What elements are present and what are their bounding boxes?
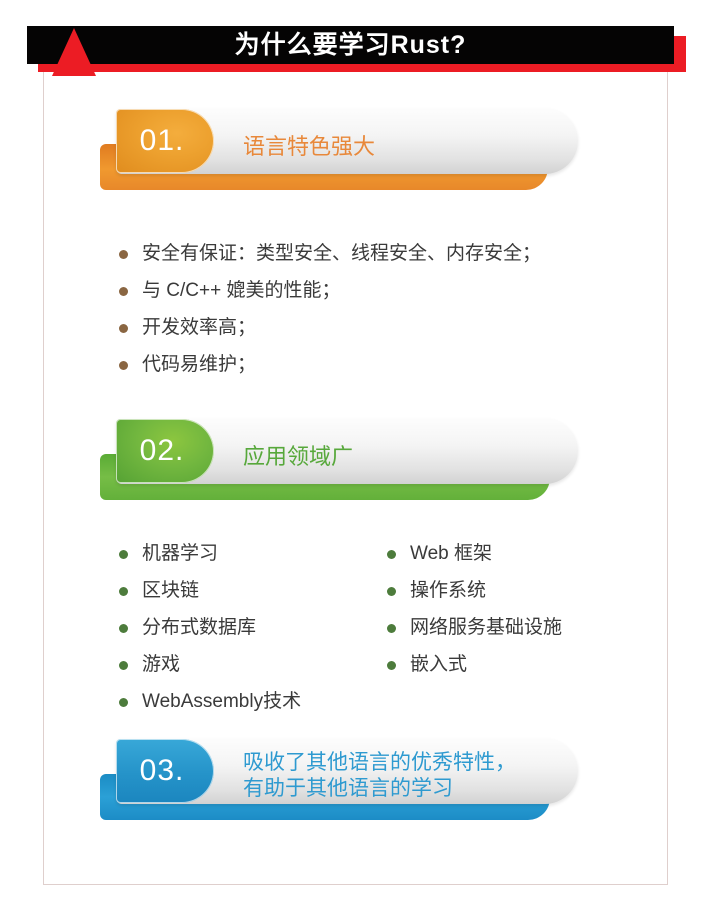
list-item-label: 游戏	[142, 654, 180, 675]
list-item-label: 开发效率高；	[142, 317, 256, 338]
bullet-dot-icon	[387, 661, 396, 670]
bullet-dot-icon	[119, 361, 128, 370]
list-item: 嵌入式	[383, 646, 562, 683]
list-item-label: 嵌入式	[410, 654, 467, 675]
list-item: 操作系统	[383, 572, 562, 609]
list-item-label: 区块链	[142, 580, 199, 601]
list-item: 网络服务基础设施	[383, 609, 562, 646]
section-title: 吸收了其他语言的优秀特性， 有助于其他语言的学习	[243, 750, 516, 802]
section-01-bullet-list: 安全有保证：类型安全、线程安全、内存安全； 与 C/C++ 媲美的性能； 开发效…	[115, 235, 541, 383]
bullet-dot-icon	[387, 624, 396, 633]
header-banner: 为什么要学习Rust?	[0, 0, 712, 90]
list-item-label: WebAssembly技术	[142, 691, 301, 712]
section-02-bullet-list-right: Web 框架 操作系统 网络服务基础设施 嵌入式	[383, 535, 562, 683]
bullet-dot-icon	[119, 550, 128, 559]
list-item-label: 与 C/C++ 媲美的性能；	[142, 280, 340, 301]
list-item-label: Web 框架	[410, 543, 492, 564]
list-item: 分布式数据库	[115, 609, 301, 646]
bullet-dot-icon	[119, 324, 128, 333]
list-item: 开发效率高；	[115, 309, 541, 346]
bullet-dot-icon	[119, 624, 128, 633]
section-number-badge: 03.	[116, 739, 214, 803]
section-header-02: 02. 应用领域广	[100, 418, 580, 504]
section-header-01: 01. 语言特色强大	[100, 108, 580, 194]
list-item: Web 框架	[383, 535, 562, 572]
section-number-badge: 02.	[116, 419, 214, 483]
section-number-badge: 01.	[116, 109, 214, 173]
section-header-03: 03. 吸收了其他语言的优秀特性， 有助于其他语言的学习	[100, 738, 580, 824]
list-item: 安全有保证：类型安全、线程安全、内存安全；	[115, 235, 541, 272]
list-item: 与 C/C++ 媲美的性能；	[115, 272, 541, 309]
page-title: 为什么要学习Rust?	[27, 26, 674, 64]
list-item: WebAssembly技术	[115, 683, 301, 720]
bullet-dot-icon	[119, 661, 128, 670]
section-title: 语言特色强大	[243, 129, 375, 161]
section-title: 应用领域广	[243, 439, 353, 471]
list-item: 代码易维护；	[115, 346, 541, 383]
bullet-dot-icon	[119, 250, 128, 259]
list-item-label: 网络服务基础设施	[410, 617, 562, 638]
list-item-label: 分布式数据库	[142, 617, 256, 638]
bullet-dot-icon	[387, 550, 396, 559]
list-item: 机器学习	[115, 535, 301, 572]
bullet-dot-icon	[119, 698, 128, 707]
bullet-dot-icon	[387, 587, 396, 596]
list-item: 游戏	[115, 646, 301, 683]
list-item-label: 代码易维护；	[142, 354, 256, 375]
bullet-dot-icon	[119, 587, 128, 596]
section-number-label: 01.	[116, 109, 214, 173]
section-number-label: 02.	[116, 419, 214, 483]
list-item-label: 安全有保证：类型安全、线程安全、内存安全；	[142, 243, 541, 264]
list-item: 区块链	[115, 572, 301, 609]
bullet-dot-icon	[119, 287, 128, 296]
list-item-label: 操作系统	[410, 580, 486, 601]
section-number-label: 03.	[116, 739, 214, 803]
section-02-bullet-list-left: 机器学习 区块链 分布式数据库 游戏 WebAssembly技术	[115, 535, 301, 720]
list-item-label: 机器学习	[142, 543, 218, 564]
